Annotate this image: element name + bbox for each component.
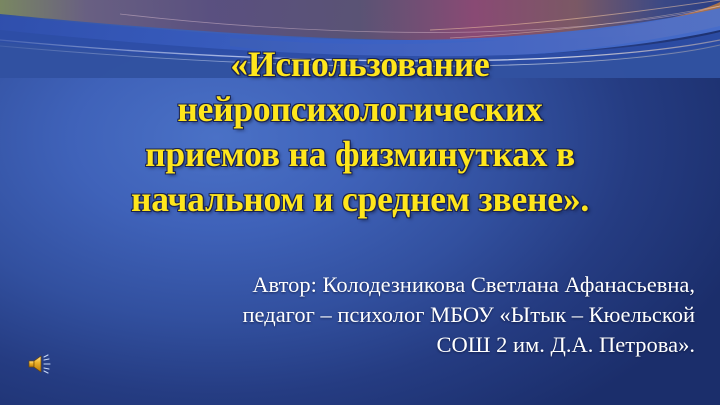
slide-author-block: Автор: Колодезникова Светлана Афанасьевн… <box>135 270 695 360</box>
author-line-2: педагог – психолог МБОУ «Ытык – Кюельско… <box>135 300 695 330</box>
author-line-3: СОШ 2 им. Д.А. Петрова». <box>135 330 695 360</box>
title-line-4: начальном и среднем звене». <box>40 177 680 222</box>
slide-title: «Использование нейропсихологических прие… <box>40 42 680 222</box>
speaker-icon[interactable] <box>27 352 57 376</box>
title-line-3: приемов на физминутках в <box>40 132 680 177</box>
presentation-slide: «Использование нейропсихологических прие… <box>0 0 720 405</box>
speaker-icon-graphic <box>27 352 57 376</box>
title-line-1: «Использование <box>40 42 680 87</box>
author-line-1: Автор: Колодезникова Светлана Афанасьевн… <box>135 270 695 300</box>
title-line-2: нейропсихологических <box>40 87 680 132</box>
